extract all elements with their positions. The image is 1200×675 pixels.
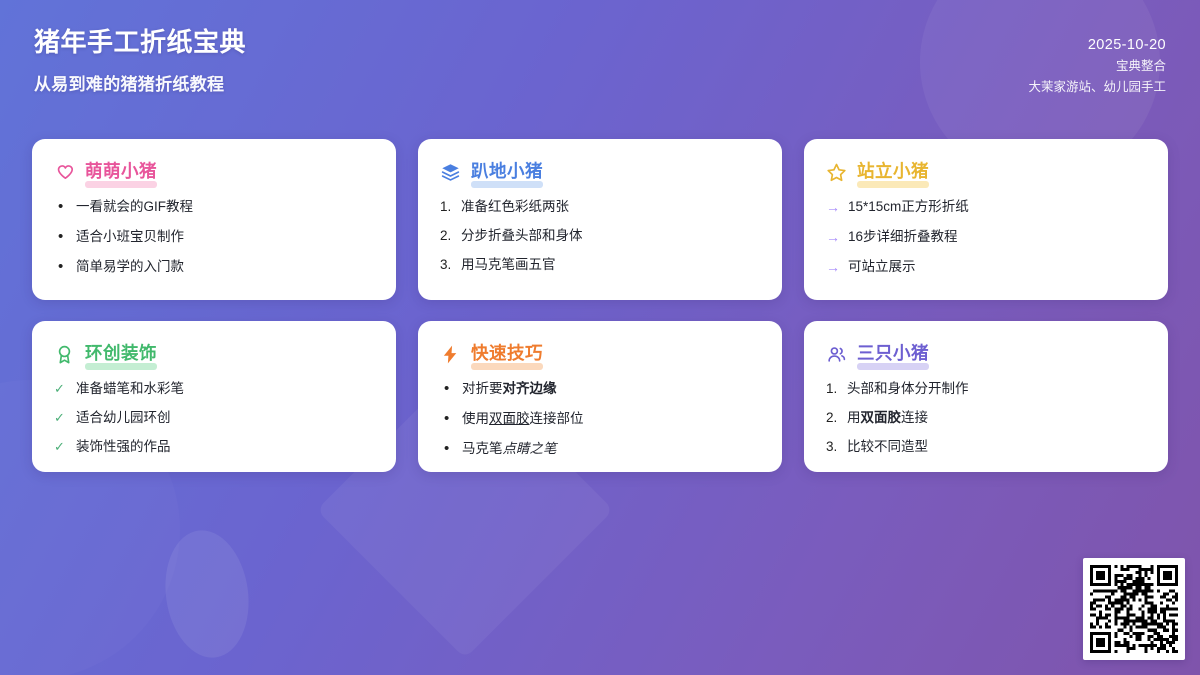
card-list: 1.准备红色彩纸两张2.分步折叠头部和身体3.用马克笔画五官 xyxy=(440,198,760,275)
bullet-dot: • xyxy=(440,410,462,429)
card-title-highlight xyxy=(471,363,543,370)
content-card: 环创装饰✓准备蜡笔和水彩笔✓适合幼儿园环创✓装饰性强的作品 xyxy=(32,321,396,472)
card-title-text: 萌萌小猪 xyxy=(85,161,157,181)
card-title-highlight xyxy=(857,363,929,370)
page-title: 猪年手工折纸宝典 xyxy=(34,26,246,59)
list-item: →15*15cm正方形折纸 xyxy=(826,198,1146,217)
qr-code-card[interactable] xyxy=(1083,558,1185,660)
card-title-text: 三只小猪 xyxy=(857,343,929,363)
users-icon xyxy=(826,344,847,365)
card-list: →15*15cm正方形折纸→16步详细折叠教程→可站立展示 xyxy=(826,198,1146,277)
card-title-text: 站立小猪 xyxy=(857,161,929,181)
card-header: 萌萌小猪 xyxy=(54,158,374,186)
card-title-highlight xyxy=(857,181,929,188)
card-title-text: 趴地小猪 xyxy=(471,161,543,181)
qr-code-icon xyxy=(1090,565,1178,653)
list-item-text: 一看就会的GIF教程 xyxy=(76,198,193,216)
list-item: •对折要对齐边缘 xyxy=(440,380,760,399)
list-item-number: 3. xyxy=(440,256,461,274)
list-item: 3.用马克笔画五官 xyxy=(440,256,760,274)
list-item: ✓装饰性强的作品 xyxy=(54,438,374,456)
list-item-text: 用双面胶连接 xyxy=(847,409,928,427)
card-header: 快速技巧 xyxy=(440,340,760,368)
card-title: 萌萌小猪 xyxy=(85,158,157,186)
list-item: →可站立展示 xyxy=(826,258,1146,277)
bullet-dot: • xyxy=(54,198,76,217)
header-meta-line-1: 宝典整合 xyxy=(1028,56,1166,76)
card-title: 站立小猪 xyxy=(857,158,929,186)
card-header: 趴地小猪 xyxy=(440,158,760,186)
header-date: 2025-10-20 xyxy=(1028,34,1166,56)
slide-canvas: 猪年手工折纸宝典 从易到难的猪猪折纸教程 2025-10-20 宝典整合 大茉家… xyxy=(0,0,1200,675)
slide-header: 猪年手工折纸宝典 从易到难的猪猪折纸教程 2025-10-20 宝典整合 大茉家… xyxy=(0,0,1200,120)
bullet-dot: • xyxy=(440,380,462,399)
list-item-number: 3. xyxy=(826,438,847,456)
card-list: •一看就会的GIF教程•适合小班宝贝制作•简单易学的入门款 xyxy=(54,198,374,276)
list-item-text: 马克笔点睛之笔 xyxy=(462,440,557,458)
list-item-text: 用马克笔画五官 xyxy=(461,256,556,274)
bullet-dot: • xyxy=(440,440,462,459)
list-item-text: 适合小班宝贝制作 xyxy=(76,228,184,246)
card-grid: 萌萌小猪•一看就会的GIF教程•适合小班宝贝制作•简单易学的入门款趴地小猪1.准… xyxy=(32,139,1174,472)
card-title-text: 环创装饰 xyxy=(85,343,157,363)
content-card: 萌萌小猪•一看就会的GIF教程•适合小班宝贝制作•简单易学的入门款 xyxy=(32,139,396,300)
list-item: •使用双面胶连接部位 xyxy=(440,410,760,429)
list-item: ✓适合幼儿园环创 xyxy=(54,409,374,427)
layers-icon xyxy=(440,162,461,183)
check-icon: ✓ xyxy=(54,380,76,398)
card-list: 1.头部和身体分开制作2.用双面胶连接3.比较不同造型 xyxy=(826,380,1146,457)
list-item-text: 准备红色彩纸两张 xyxy=(461,198,569,216)
list-item-text: 准备蜡笔和水彩笔 xyxy=(76,380,184,398)
card-title-highlight xyxy=(85,181,157,188)
list-item: •一看就会的GIF教程 xyxy=(54,198,374,217)
list-item-text: 简单易学的入门款 xyxy=(76,258,184,276)
card-title: 三只小猪 xyxy=(857,340,929,368)
heart-icon xyxy=(54,162,75,183)
list-item: •马克笔点睛之笔 xyxy=(440,440,760,459)
card-title: 快速技巧 xyxy=(471,340,543,368)
card-title: 环创装饰 xyxy=(85,340,157,368)
star-icon xyxy=(826,162,847,183)
header-meta: 2025-10-20 宝典整合 大茉家游站、幼儿园手工 xyxy=(1028,26,1166,97)
list-item-text: 比较不同造型 xyxy=(847,438,928,456)
list-item-number: 2. xyxy=(440,227,461,245)
list-item-text: 装饰性强的作品 xyxy=(76,438,171,456)
bullet-dot: • xyxy=(54,258,76,277)
list-item-text: 15*15cm正方形折纸 xyxy=(848,198,969,216)
content-card: 快速技巧•对折要对齐边缘•使用双面胶连接部位•马克笔点睛之笔 xyxy=(418,321,782,472)
arrow-right-icon: → xyxy=(826,228,848,247)
bullet-dot: • xyxy=(54,228,76,247)
list-item-text: 对折要对齐边缘 xyxy=(462,380,557,398)
arrow-right-icon: → xyxy=(826,198,848,217)
list-item: •适合小班宝贝制作 xyxy=(54,228,374,247)
check-icon: ✓ xyxy=(54,438,76,456)
list-item-text: 适合幼儿园环创 xyxy=(76,409,171,427)
card-header: 站立小猪 xyxy=(826,158,1146,186)
list-item-number: 1. xyxy=(440,198,461,216)
decorative-ellipse xyxy=(157,525,256,663)
check-icon: ✓ xyxy=(54,409,76,427)
award-icon xyxy=(54,344,75,365)
card-list: ✓准备蜡笔和水彩笔✓适合幼儿园环创✓装饰性强的作品 xyxy=(54,380,374,457)
header-meta-line-2: 大茉家游站、幼儿园手工 xyxy=(1028,77,1166,97)
list-item-text: 可站立展示 xyxy=(848,258,916,276)
content-card: 三只小猪1.头部和身体分开制作2.用双面胶连接3.比较不同造型 xyxy=(804,321,1168,472)
list-item: 2.用双面胶连接 xyxy=(826,409,1146,427)
content-card: 站立小猪→15*15cm正方形折纸→16步详细折叠教程→可站立展示 xyxy=(804,139,1168,300)
header-titles: 猪年手工折纸宝典 从易到难的猪猪折纸教程 xyxy=(34,26,246,95)
arrow-right-icon: → xyxy=(826,258,848,277)
list-item: ✓准备蜡笔和水彩笔 xyxy=(54,380,374,398)
list-item-text: 使用双面胶连接部位 xyxy=(462,410,584,428)
card-title: 趴地小猪 xyxy=(471,158,543,186)
card-title-text: 快速技巧 xyxy=(471,343,543,363)
list-item: 3.比较不同造型 xyxy=(826,438,1146,456)
card-title-highlight xyxy=(85,363,157,370)
zap-icon xyxy=(440,344,461,365)
list-item-number: 1. xyxy=(826,380,847,398)
list-item: 2.分步折叠头部和身体 xyxy=(440,227,760,245)
card-list: •对折要对齐边缘•使用双面胶连接部位•马克笔点睛之笔 xyxy=(440,380,760,458)
list-item: →16步详细折叠教程 xyxy=(826,228,1146,247)
list-item: 1.头部和身体分开制作 xyxy=(826,380,1146,398)
content-card: 趴地小猪1.准备红色彩纸两张2.分步折叠头部和身体3.用马克笔画五官 xyxy=(418,139,782,300)
card-title-highlight xyxy=(471,181,543,188)
list-item-text: 16步详细折叠教程 xyxy=(848,228,958,246)
list-item-number: 2. xyxy=(826,409,847,427)
card-header: 环创装饰 xyxy=(54,340,374,368)
list-item: •简单易学的入门款 xyxy=(54,258,374,277)
card-header: 三只小猪 xyxy=(826,340,1146,368)
list-item-text: 分步折叠头部和身体 xyxy=(461,227,583,245)
list-item: 1.准备红色彩纸两张 xyxy=(440,198,760,216)
list-item-text: 头部和身体分开制作 xyxy=(847,380,969,398)
page-subtitle: 从易到难的猪猪折纸教程 xyxy=(34,70,246,95)
